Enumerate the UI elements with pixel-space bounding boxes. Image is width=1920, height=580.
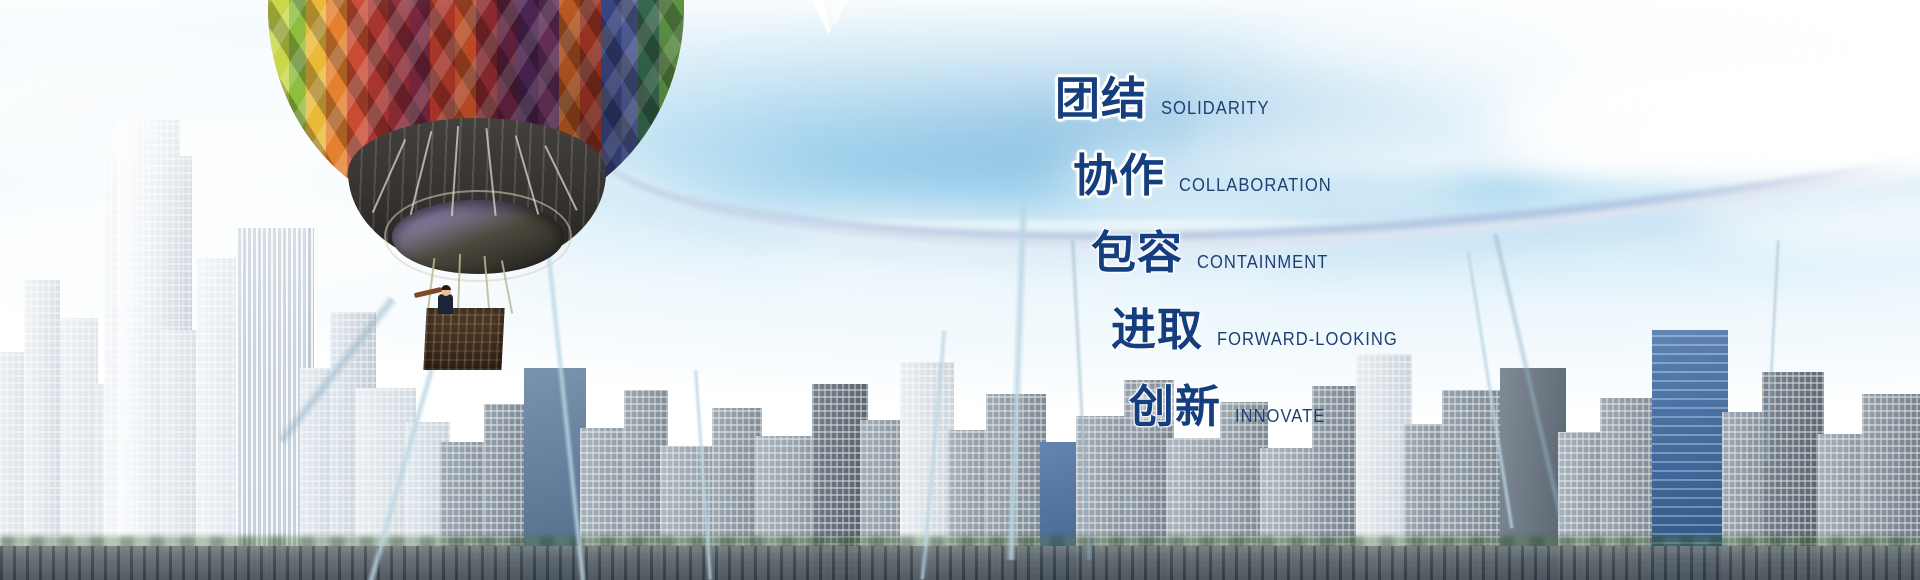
balloon-basket [423,308,504,370]
building-far-3 [24,280,60,580]
slogan-en-collaboration: COLLABORATION [1179,175,1332,196]
bridge-deck [0,546,1920,580]
slogan-row-collaboration: 协作 COLLABORATION [1073,139,1414,204]
slogan-cn-collaboration: 协作 [1073,139,1165,204]
slogan-cn-solidarity: 团结 [1055,62,1147,127]
slogan-row-forward-looking: 进取 FORWARD-LOOKING [1111,293,1414,358]
slogan-row-innovate: 创新 INNOVATE [1129,370,1414,435]
hero-banner: 团结 SOLIDARITY 协作 COLLABORATION 包容 CONTAI… [0,0,1920,580]
slogan-cn-innovate: 创新 [1129,370,1221,435]
slogan-en-forward-looking: FORWARD-LOOKING [1217,329,1398,350]
balloon-passenger-body [438,294,453,314]
slogan-cn-forward-looking: 进取 [1111,293,1203,358]
slogan-list: 团结 SOLIDARITY 协作 COLLABORATION 包容 CONTAI… [1055,62,1414,435]
balloon-passenger-hair [441,285,451,290]
slogan-cn-containment: 包容 [1091,216,1183,281]
slogan-row-containment: 包容 CONTAINMENT [1091,216,1414,281]
hot-air-balloon [268,0,684,398]
slogan-en-solidarity: SOLIDARITY [1161,98,1270,119]
slogan-row-solidarity: 团结 SOLIDARITY [1055,62,1414,127]
slogan-en-containment: CONTAINMENT [1197,252,1328,273]
slogan-en-innovate: INNOVATE [1235,406,1325,427]
